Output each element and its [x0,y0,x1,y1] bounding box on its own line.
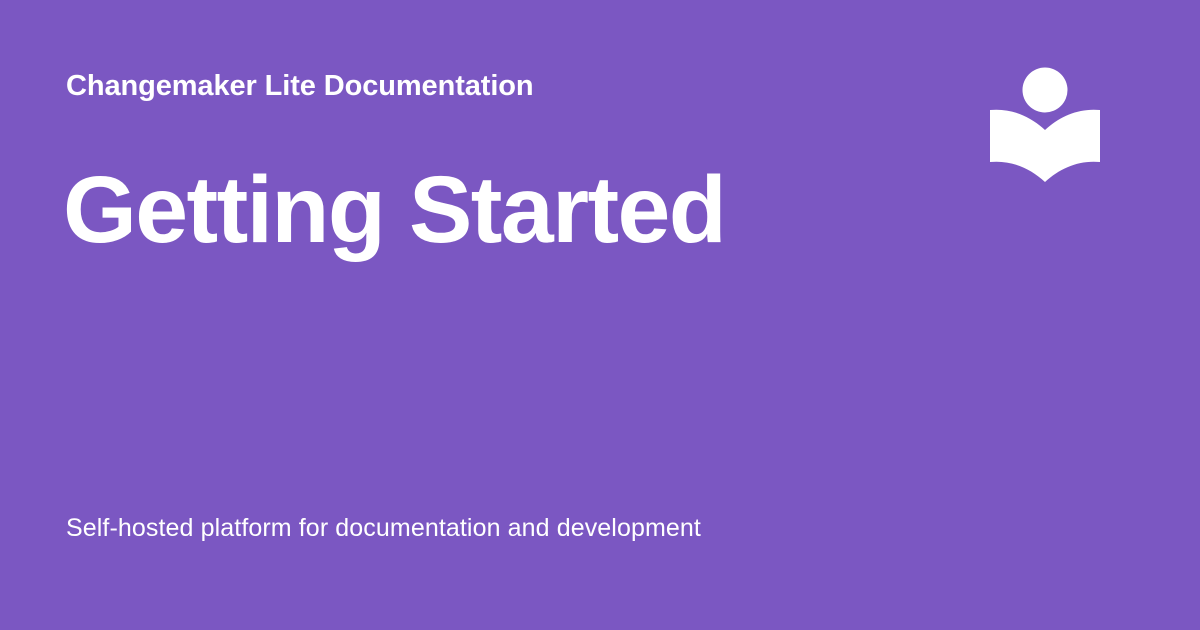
brand-title: Changemaker Lite Documentation [66,69,534,103]
page-subtitle: Self-hosted platform for documentation a… [66,512,701,544]
page-title: Getting Started [63,156,725,264]
og-banner-card: Changemaker Lite Documentation Getting S… [0,0,1200,630]
open-book-reader-icon [985,62,1105,188]
